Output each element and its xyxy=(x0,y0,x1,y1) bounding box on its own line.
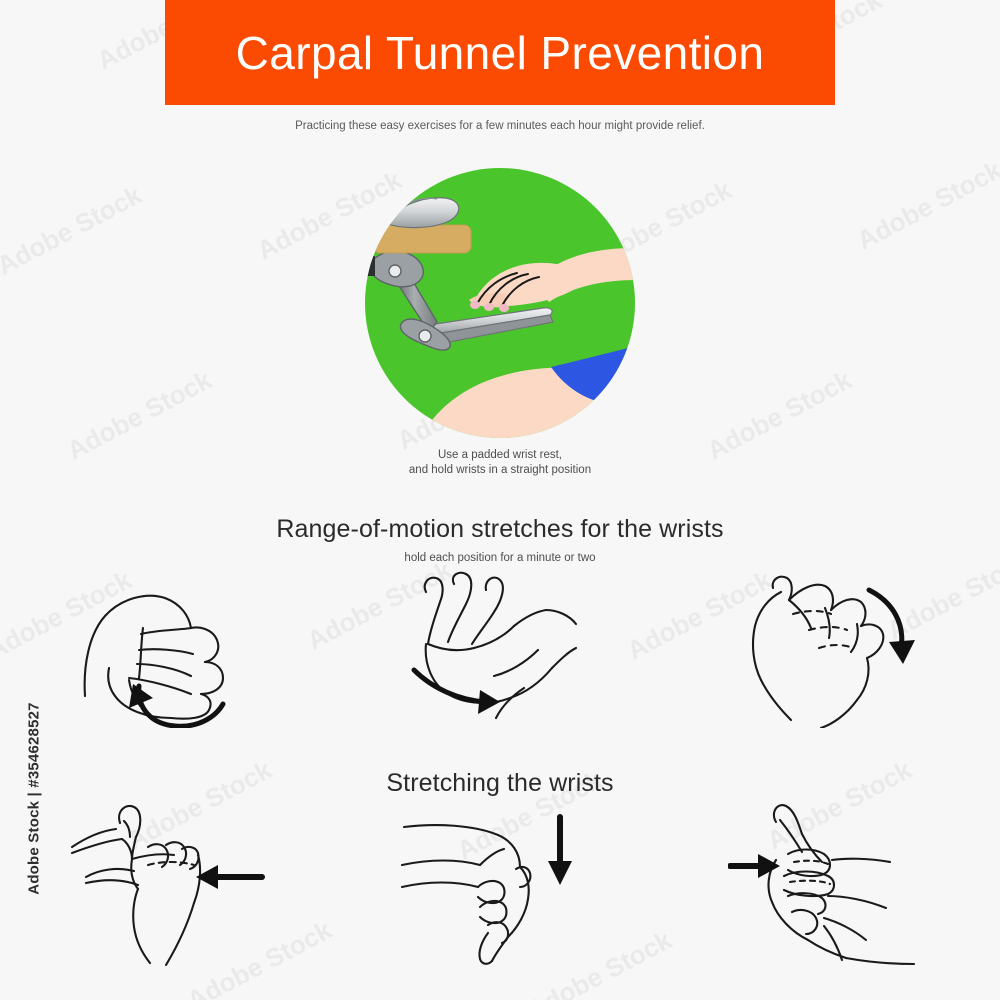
exercise-cell-fist-flex-down xyxy=(0,568,333,728)
open-hand-extension-illustration xyxy=(400,568,600,728)
arm-clamp xyxy=(365,256,375,276)
watermark-tile: Adobe Stock xyxy=(0,180,147,282)
straight-arrow-down xyxy=(548,817,572,885)
wrist-rest-keyboard-illustration xyxy=(365,168,635,438)
adobe-stock-watermark-id: Adobe Stock | #354628527 xyxy=(26,699,43,899)
exercise-row-range-of-motion xyxy=(0,568,1000,728)
section-subheading-range-of-motion: hold each position for a minute or two xyxy=(0,552,1000,564)
exercise-cell-wrist-flex-down xyxy=(333,805,666,965)
infographic-page: Adobe Stock Adobe Stock Adobe Stock Adob… xyxy=(0,0,1000,1000)
fingertip xyxy=(470,301,480,309)
exercise-cell-palm-push-left xyxy=(0,805,333,965)
exercise-cell-fist-back-down xyxy=(667,568,1000,728)
padded-wrist-rest xyxy=(373,225,471,253)
curved-arrow-right xyxy=(414,670,500,714)
hero-caption: Use a padded wrist rest, and hold wrists… xyxy=(0,448,1000,478)
watermark-tile: Adobe Stock xyxy=(852,155,1000,257)
page-title: Carpal Tunnel Prevention xyxy=(236,26,765,80)
arm-pivot-upper xyxy=(389,265,401,277)
exercise-cell-finger-pull-right xyxy=(667,805,1000,965)
finger-pull-stretch-illustration xyxy=(728,800,938,970)
hero-caption-line1: Use a padded wrist rest, xyxy=(0,448,1000,463)
fingertip xyxy=(499,304,509,312)
exercise-cell-open-hand-extend xyxy=(333,568,666,728)
section-heading-range-of-motion: Range-of-motion stretches for the wrists xyxy=(0,515,1000,544)
fist-flexion-hand-illustration xyxy=(67,568,267,728)
header-banner: Carpal Tunnel Prevention xyxy=(165,0,835,105)
intro-text: Practicing these easy exercises for a fe… xyxy=(0,120,1000,132)
hero-caption-line2: and hold wrists in a straight position xyxy=(0,463,1000,478)
section-heading-stretching: Stretching the wrists xyxy=(0,769,1000,798)
exercise-row-stretching xyxy=(0,805,1000,965)
fingertip xyxy=(484,303,494,311)
curved-arrow-left xyxy=(129,684,223,726)
two-hand-wrist-stretch-illustration xyxy=(62,803,272,968)
hero-illustration xyxy=(365,168,635,438)
straight-arrow-right xyxy=(730,854,780,878)
straight-arrow-left xyxy=(196,865,262,889)
downward-wrist-stretch-illustration xyxy=(400,803,600,968)
fist-back-view-illustration xyxy=(733,568,933,728)
arm-pivot-lower xyxy=(419,330,431,342)
